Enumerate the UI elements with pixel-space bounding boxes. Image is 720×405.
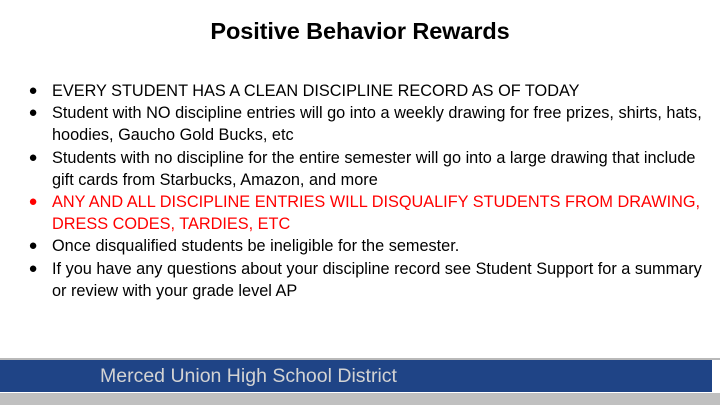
list-item: ● If you have any questions about your d…: [22, 258, 716, 302]
list-item-text: EVERY STUDENT HAS A CLEAN DISCIPLINE REC…: [52, 82, 579, 100]
organization-name: Merced Union High School District: [100, 360, 397, 392]
footer-banner: Merced Union High School District: [0, 360, 712, 392]
list-item: ● EVERY STUDENT HAS A CLEAN DISCIPLINE R…: [22, 80, 716, 102]
bullet-list: ● EVERY STUDENT HAS A CLEAN DISCIPLINE R…: [22, 80, 716, 302]
list-item-text: Students with no discipline for the enti…: [52, 149, 695, 189]
list-item: ● Student with NO discipline entries wil…: [22, 102, 716, 146]
list-item-warning: ● ANY AND ALL DISCIPLINE ENTRIES WILL DI…: [22, 191, 716, 235]
slide-footer: Merced Union High School District: [0, 358, 720, 405]
bullet-dot-icon: ●: [26, 80, 40, 102]
page-title: Positive Behavior Rewards: [0, 19, 720, 45]
list-item-text: Once disqualified students be ineligible…: [52, 237, 459, 255]
list-item: ● Students with no discipline for the en…: [22, 147, 716, 191]
list-item: ● Once disqualified students be ineligib…: [22, 235, 716, 257]
footer-bottom-strip: [0, 393, 720, 405]
bullet-dot-icon: ●: [26, 102, 40, 124]
list-item-text: ANY AND ALL DISCIPLINE ENTRIES WILL DISQ…: [52, 193, 700, 233]
list-item-text: Student with NO discipline entries will …: [52, 104, 702, 144]
bullet-dot-icon: ●: [26, 191, 40, 213]
list-item-text: If you have any questions about your dis…: [52, 260, 702, 300]
slide-canvas: Positive Behavior Rewards ● EVERY STUDEN…: [0, 0, 720, 405]
bullet-dot-icon: ●: [26, 147, 40, 169]
bullet-dot-icon: ●: [26, 235, 40, 257]
bullet-dot-icon: ●: [26, 258, 40, 280]
